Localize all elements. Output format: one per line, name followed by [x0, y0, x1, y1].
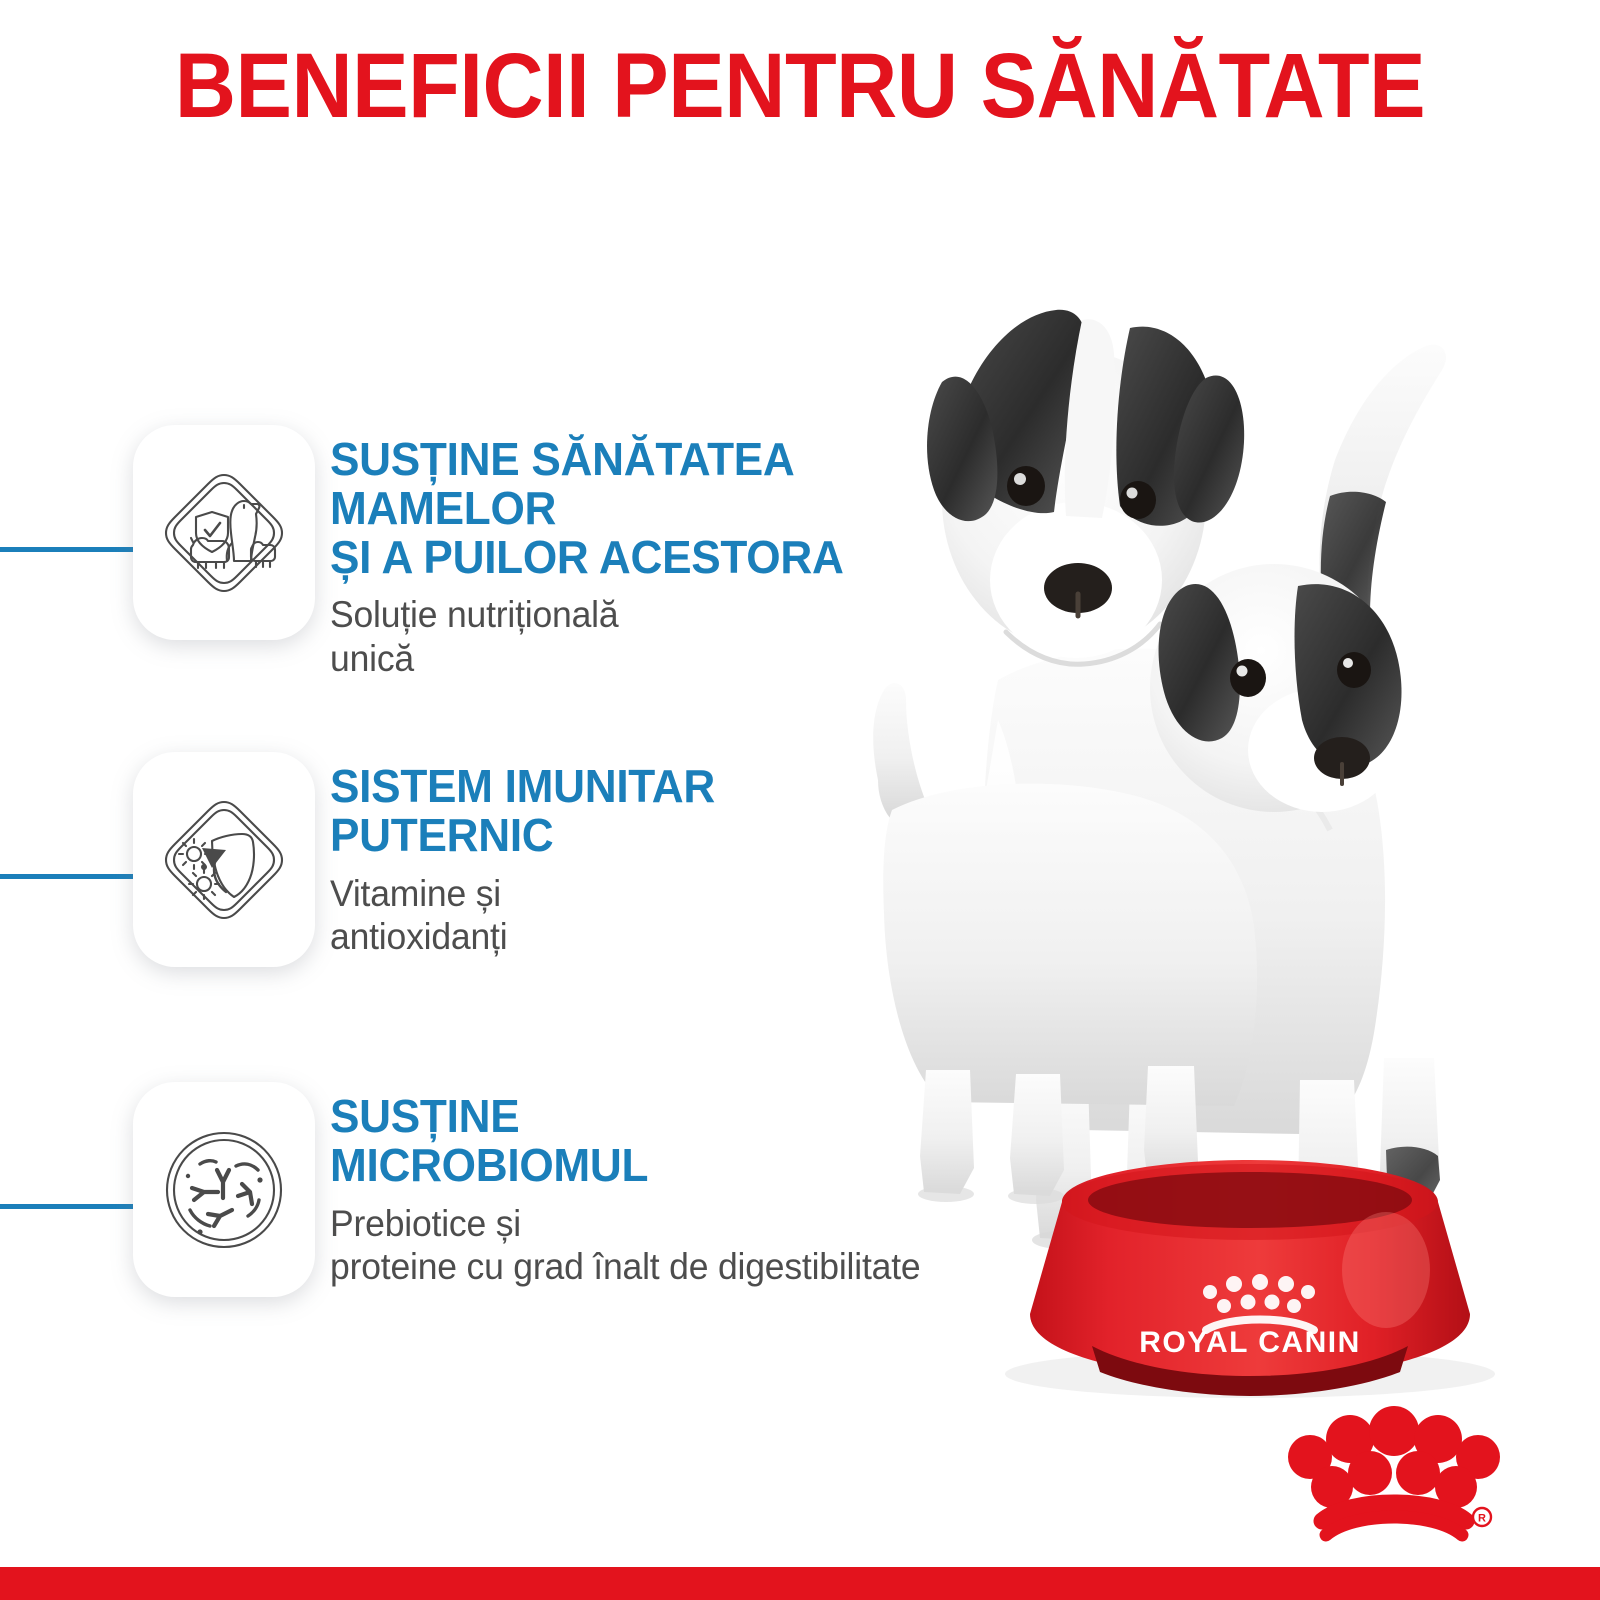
royal-canin-crown-logo: R — [1270, 1405, 1520, 1545]
health-benefits-infographic: BENEFICII PENTRU SĂNĂTATE — [0, 0, 1600, 1600]
bottom-red-bar — [0, 1567, 1600, 1600]
page-title: BENEFICII PENTRU SĂNĂTATE — [64, 38, 1536, 135]
mother-and-puppies-shield-icon — [160, 469, 288, 597]
benefit-row-3: SUSȚINE MICROBIOMUL Prebiotice și protei… — [0, 1082, 1000, 1347]
benefit-subtitle-1: Soluție nutrițională unică — [330, 593, 964, 680]
benefit-icon-card-2 — [133, 752, 315, 967]
immune-shield-germs-icon — [160, 796, 288, 924]
benefit-heading-3: SUSȚINE MICROBIOMUL — [330, 1092, 964, 1190]
crown-icon — [1288, 1406, 1500, 1508]
benefit-row-1: SUSȚINE SĂNĂTATEA MAMELOR ȘI A PUILOR AC… — [0, 425, 1000, 675]
benefit-subtitle-2: Vitamine și antioxidanți — [330, 872, 964, 959]
benefit-text-3: SUSȚINE MICROBIOMUL Prebiotice și protei… — [330, 1092, 990, 1289]
benefit-row-2: SISTEM IMUNITAR PUTERNIC Vitamine și ant… — [0, 752, 1000, 1002]
bowl-brand-text: ROYAL CANIN — [1139, 1326, 1361, 1359]
microbiome-bacteria-icon — [160, 1126, 288, 1254]
benefit-text-2: SISTEM IMUNITAR PUTERNIC Vitamine și ant… — [330, 762, 990, 959]
benefit-subtitle-3: Prebiotice și proteine cu grad înalt de … — [330, 1202, 964, 1289]
registered-mark: R — [1473, 1508, 1491, 1526]
benefit-heading-2: SISTEM IMUNITAR PUTERNIC — [330, 762, 964, 860]
benefit-icon-card-3 — [133, 1082, 315, 1297]
benefit-text-1: SUSȚINE SĂNĂTATEA MAMELOR ȘI A PUILOR AC… — [330, 435, 990, 681]
svg-text:R: R — [1478, 1513, 1486, 1525]
benefit-icon-card-1 — [133, 425, 315, 640]
royal-canin-bowl: ROYAL CANIN — [1005, 1160, 1495, 1398]
benefit-heading-1: SUSȚINE SĂNĂTATEA MAMELOR ȘI A PUILOR AC… — [330, 435, 964, 581]
